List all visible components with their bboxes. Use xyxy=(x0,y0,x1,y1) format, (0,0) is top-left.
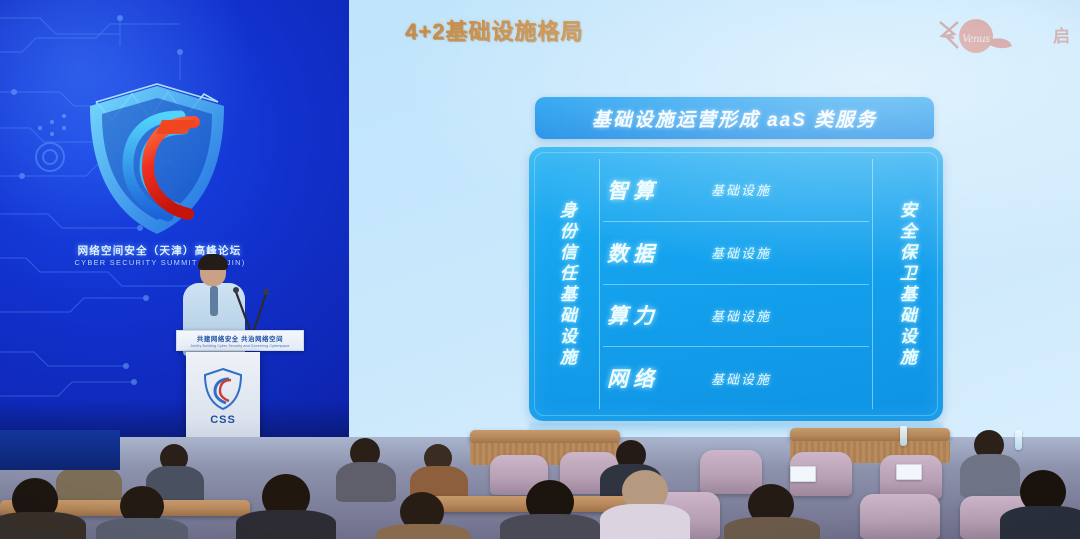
slide-title: 4+2基础设施格局 xyxy=(405,14,583,46)
audience-body xyxy=(236,510,336,539)
audience-member xyxy=(600,470,690,539)
right-vertical-column: 安全保卫基础设施 xyxy=(875,157,937,413)
podium-banner: 共建网络安全 共治网络空间 Jointly Building Cyber Sec… xyxy=(176,330,304,351)
podium-banner-cn: 共建网络安全 共治网络空间 xyxy=(197,334,283,343)
row-keyword: 智算 xyxy=(607,175,711,205)
podium-brand-mark: CSS xyxy=(186,414,260,426)
row-keyword: 算力 xyxy=(607,300,711,330)
row-keyword: 数据 xyxy=(607,238,711,268)
venus-brand-logo: Venus xyxy=(924,14,1044,58)
audience-body xyxy=(376,524,470,539)
seat-name-card xyxy=(790,466,816,482)
speaker-hair xyxy=(198,254,228,270)
stage-backdrop: 网络空间安全（天津）高峰论坛 CYBER SECURITY SUMMIT (TI… xyxy=(0,0,349,440)
audience-member xyxy=(336,438,396,500)
row-suffix: 基础设施 xyxy=(711,243,771,262)
table-row: 智算 基础设施 xyxy=(603,159,869,222)
audience-member xyxy=(96,486,188,539)
left-vertical-column: 身份信任基础设施 xyxy=(535,157,597,413)
table-row: 数据 基础设施 xyxy=(603,222,869,285)
audience-body xyxy=(724,517,820,539)
audience-member xyxy=(724,484,820,539)
audience-member xyxy=(0,478,86,539)
audience-member xyxy=(1000,470,1080,539)
table-row: 算力 基础设施 xyxy=(603,285,869,348)
summit-shield-logo xyxy=(72,68,242,243)
infrastructure-matrix-panel: 身份信任基础设施 智算 基础设施 数据 基础设施 算力 基础设施 网络 基础设施 xyxy=(529,147,943,421)
row-keyword: 网络 xyxy=(607,363,711,393)
slide-header-banner: 基础设施运营形成 aaS 类服务 xyxy=(535,97,934,139)
desk xyxy=(790,428,950,442)
chair xyxy=(860,494,940,539)
infrastructure-rows: 智算 基础设施 数据 基础设施 算力 基础设施 网络 基础设施 xyxy=(603,159,869,409)
svg-text:Venus: Venus xyxy=(962,31,990,45)
left-divider-line xyxy=(599,159,600,409)
podium-banner-en: Jointly Building Cyber Security and Gove… xyxy=(190,344,289,348)
left-wall-panel xyxy=(0,430,120,470)
projection-screen: 4+2基础设施格局 Venus 启 基础设施运营形成 aaS 类服务 身份信任基… xyxy=(349,0,1080,437)
podium-shield-logo xyxy=(201,366,245,412)
water-bottle xyxy=(900,426,907,446)
desk xyxy=(470,430,620,444)
audience-member xyxy=(236,474,336,539)
right-divider-line xyxy=(872,159,873,409)
audience-member xyxy=(500,480,600,539)
conference-hall-scene: 网络空间安全（天津）高峰论坛 CYBER SECURITY SUMMIT (TI… xyxy=(0,0,1080,539)
slide-header-banner-text: 基础设施运营形成 aaS 类服务 xyxy=(592,105,877,132)
row-suffix: 基础设施 xyxy=(711,369,771,388)
right-column-text: 安全保卫基础设施 xyxy=(897,201,915,369)
row-suffix: 基础设施 xyxy=(711,180,771,199)
audience-body xyxy=(96,518,188,539)
seat-name-card xyxy=(896,464,922,480)
audience-member xyxy=(376,492,470,539)
left-column-text: 身份信任基础设施 xyxy=(557,201,575,369)
table-row: 网络 基础设施 xyxy=(603,347,869,409)
audience-body xyxy=(600,504,690,539)
audience-body xyxy=(1000,506,1080,539)
venus-brand-text-cn: 启 xyxy=(1053,22,1070,47)
audience-body xyxy=(0,512,86,539)
audience-body xyxy=(500,514,600,539)
row-suffix: 基础设施 xyxy=(711,306,771,325)
